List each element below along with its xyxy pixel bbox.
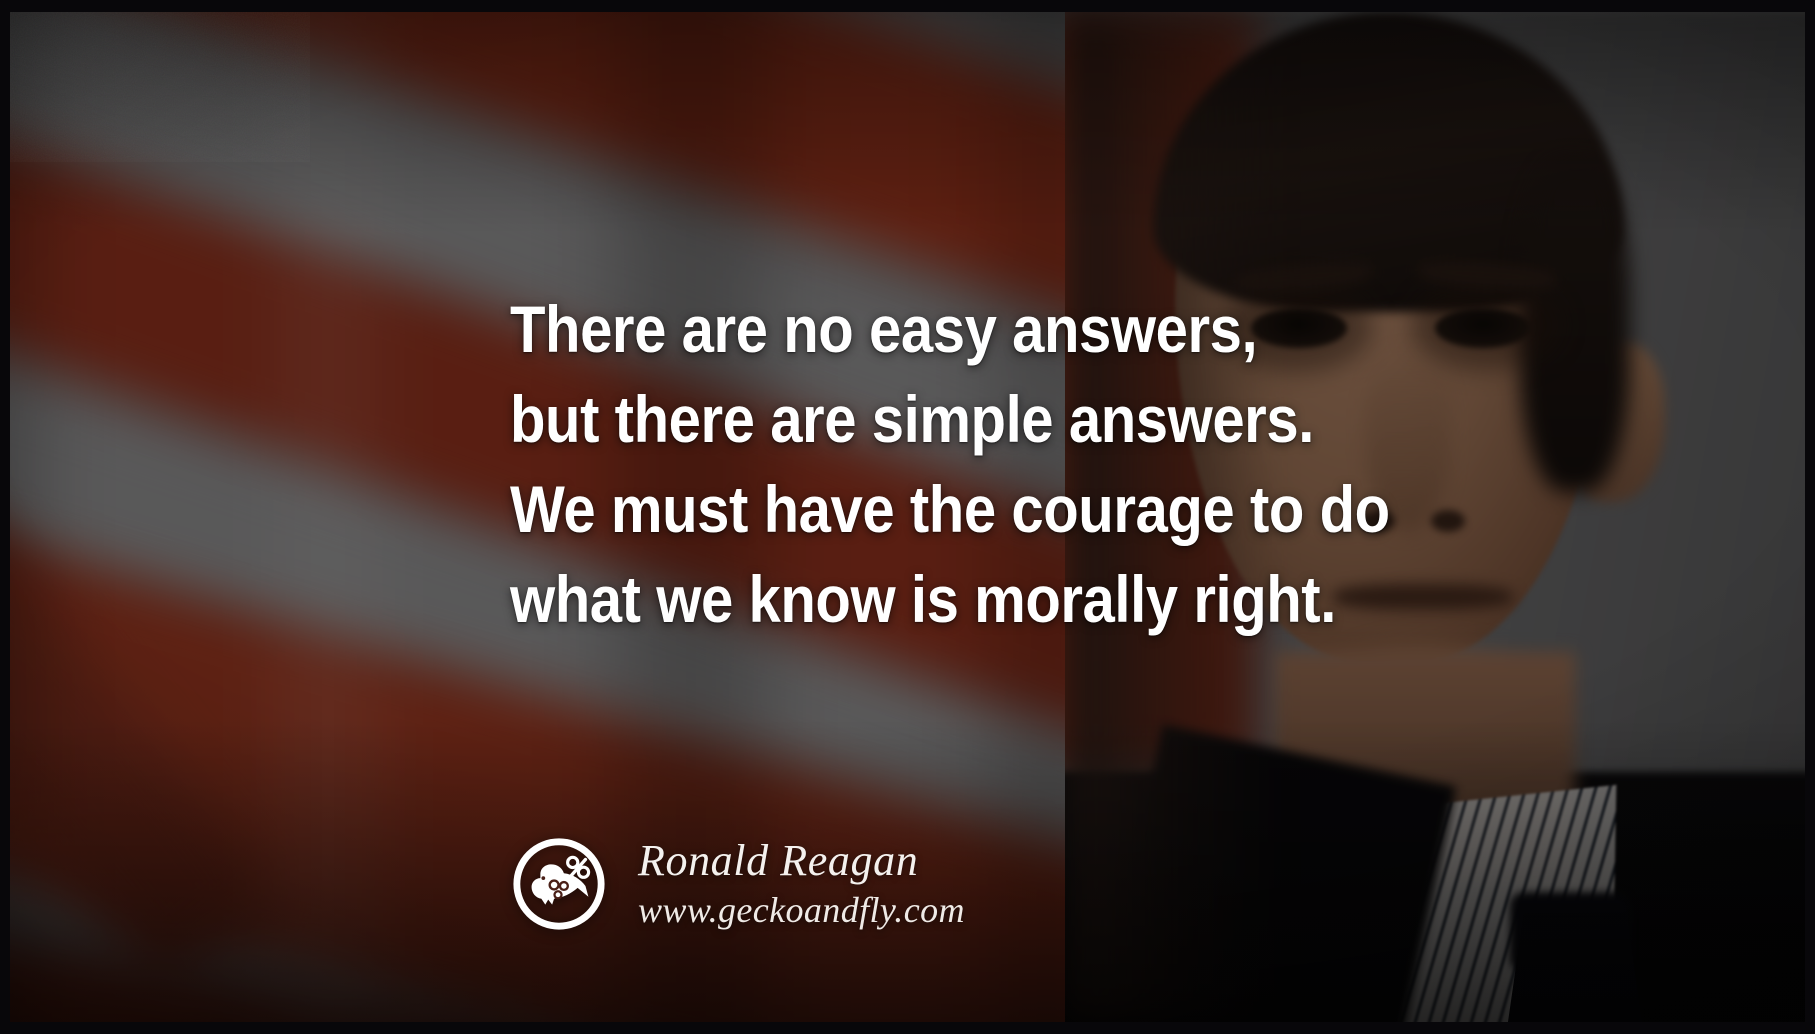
attribution-block: Ronald Reagan www.geckoandfly.com [510, 834, 965, 933]
bird-percent-circle-logo-icon [510, 835, 608, 933]
quote-line-2: but there are simple answers. [510, 374, 1337, 464]
attribution-text: Ronald Reagan www.geckoandfly.com [638, 834, 965, 933]
author-name: Ronald Reagan [638, 834, 965, 887]
quote-line-3: We must have the courage to do [510, 464, 1337, 554]
website-url: www.geckoandfly.com [638, 887, 965, 933]
quote-line-1: There are no easy answers, [510, 284, 1337, 374]
film-grain-overlay [10, 12, 310, 162]
poster-photo: There are no easy answers, but there are… [10, 12, 1805, 1022]
quote-poster: There are no easy answers, but there are… [0, 0, 1815, 1034]
quote-line-4: what we know is morally right. [510, 554, 1337, 644]
quote-text-block: There are no easy answers, but there are… [510, 284, 1450, 644]
